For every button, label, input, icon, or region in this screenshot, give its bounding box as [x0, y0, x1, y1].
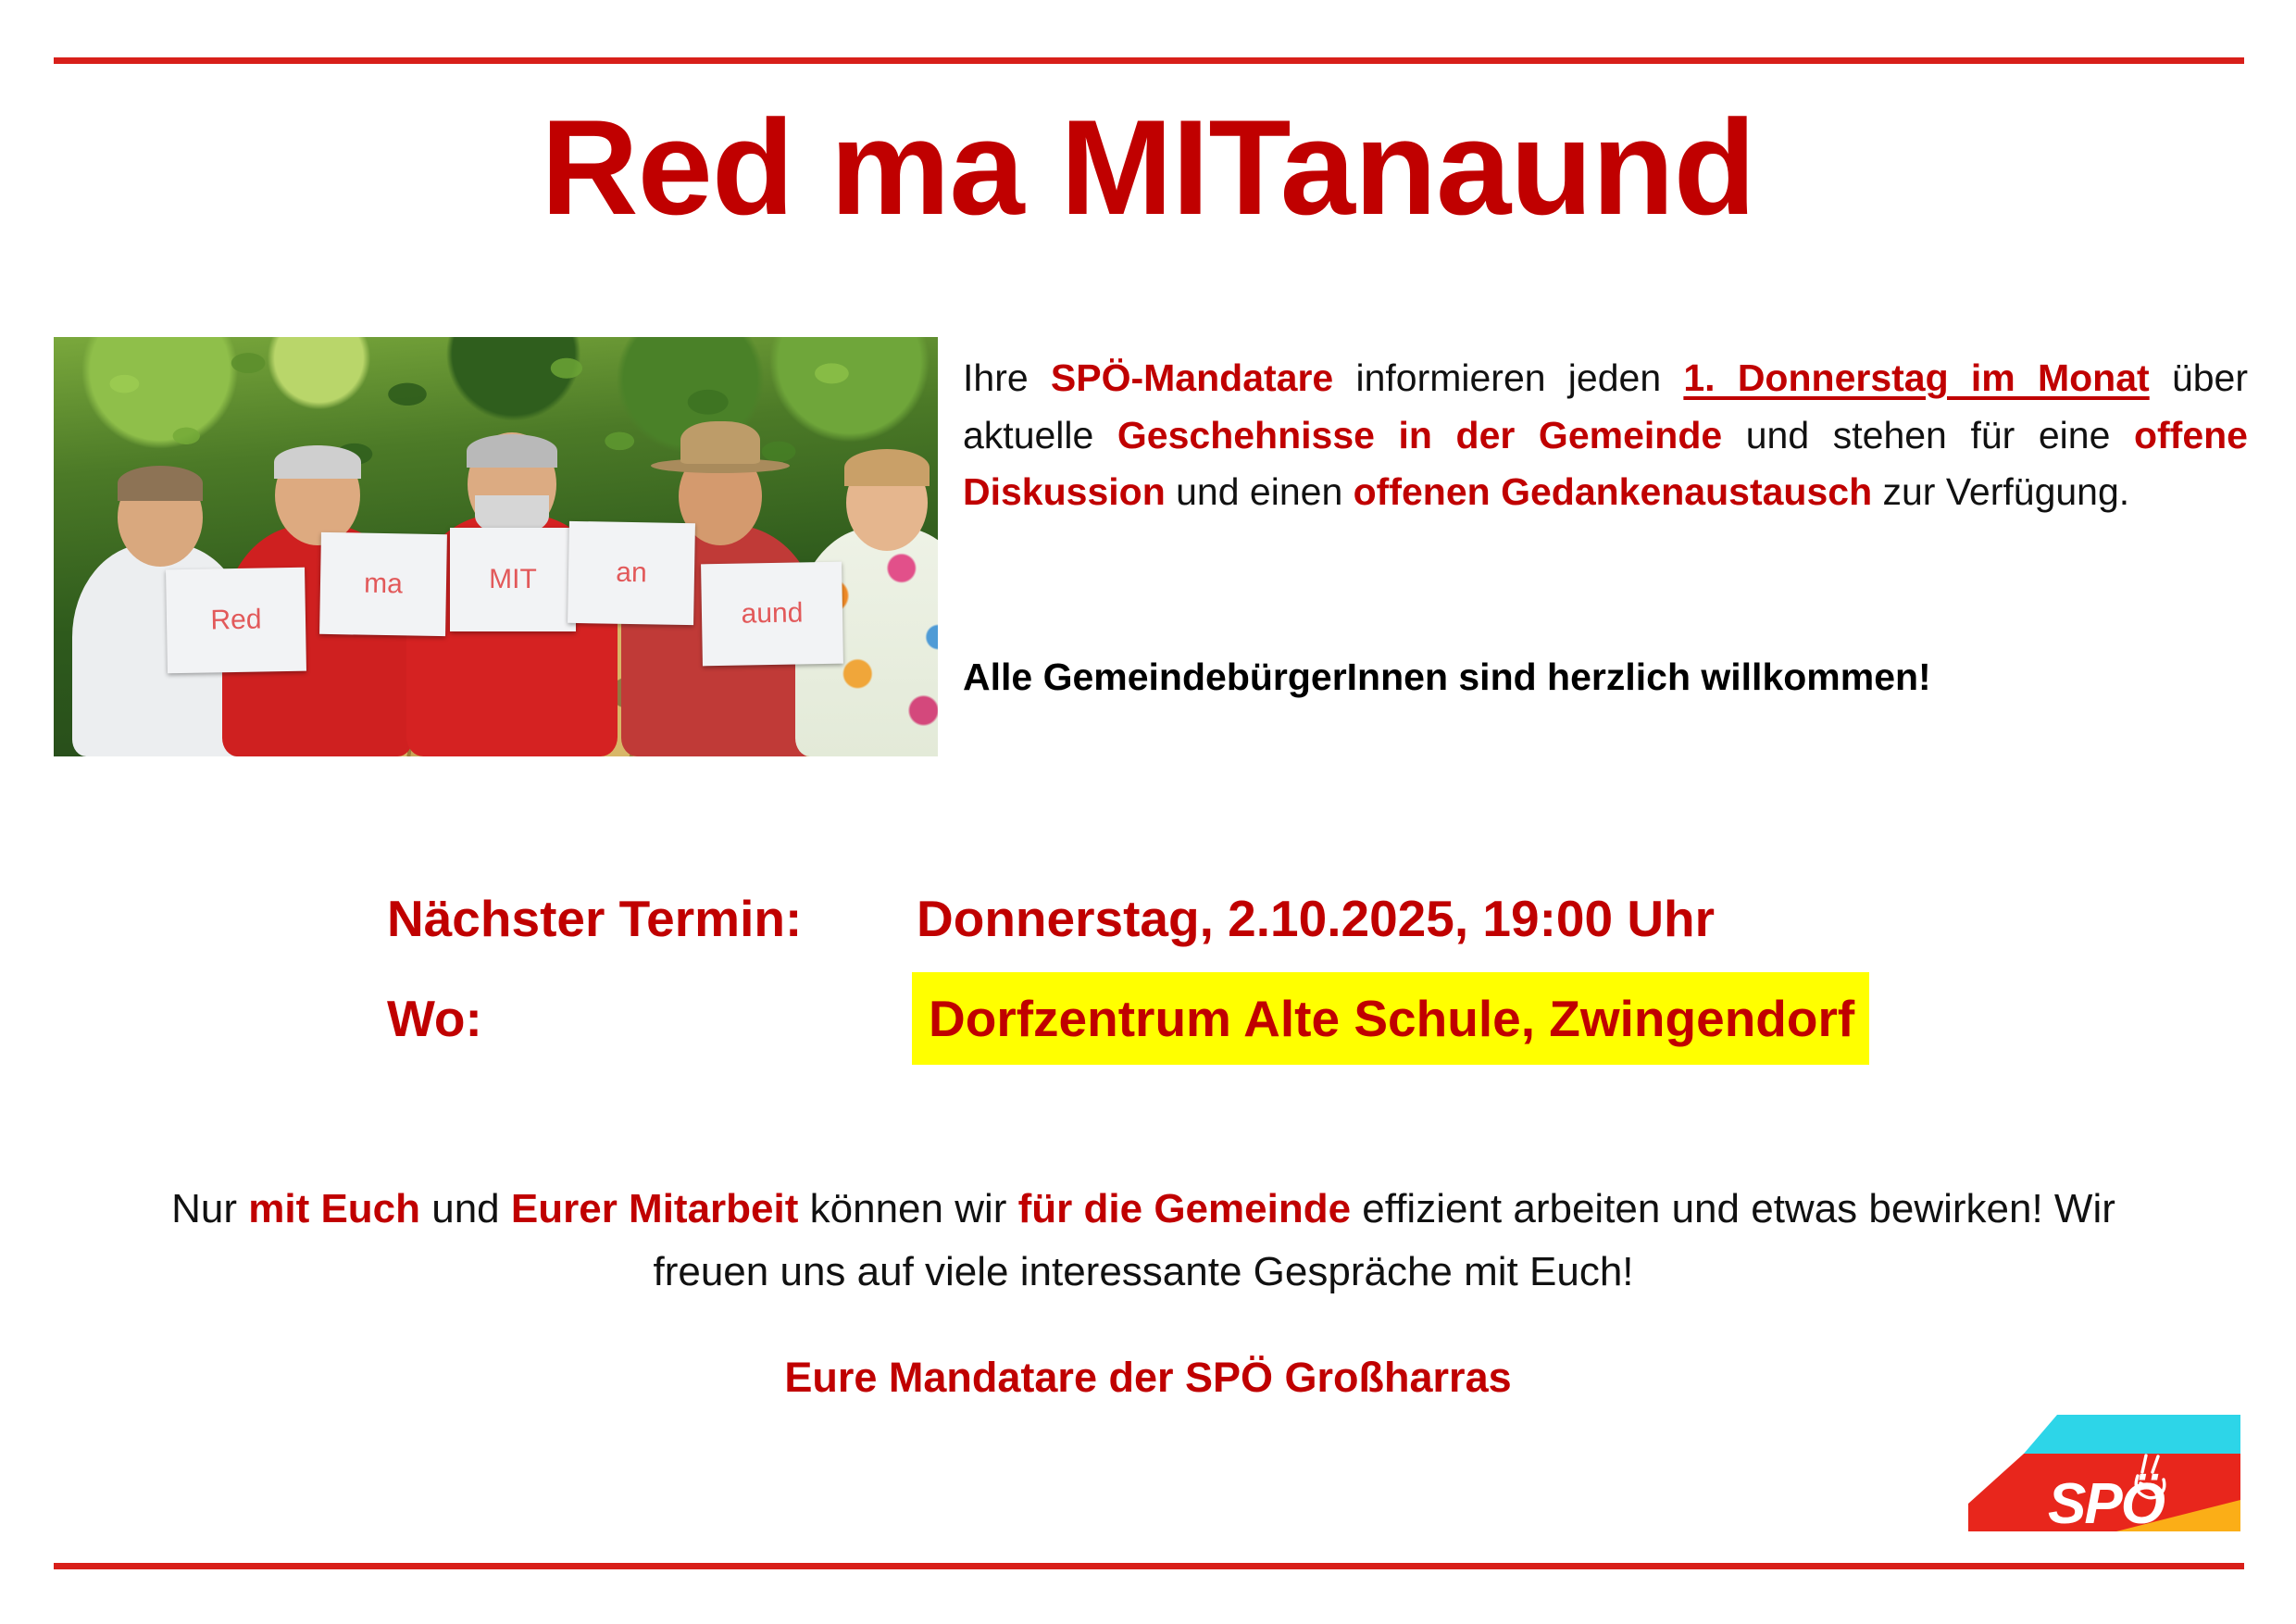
intro-geschehnisse: Geschehnisse in der Gemeinde [1117, 414, 1722, 456]
photo-sign-red: Red [166, 568, 306, 674]
welcome-line: Alle GemeindebürgerInnen sind herzlich w… [963, 653, 2259, 702]
intro-paragraph: Ihre SPÖ-Mandatare informieren jeden 1. … [963, 350, 2248, 521]
intro-gedankenaustausch: offenen Gedankenaustausch [1354, 470, 1872, 513]
closing-seg-1: Nur [171, 1186, 248, 1231]
spoe-logo: SPÖ [1968, 1415, 2240, 1567]
bottom-red-rule [54, 1563, 2244, 1569]
spoe-logo-text: SPÖ [2048, 1476, 2164, 1533]
photo-person-2-hair [274, 445, 361, 479]
photo-person-4-hat-crown [680, 421, 760, 464]
photo-person-5-hair [844, 449, 930, 486]
photo-sign-ma: ma [319, 532, 447, 636]
signoff-line: Eure Mandatare der SPÖ Großharras [0, 1354, 2296, 1402]
poster-canvas: Red ma MITanaund [0, 0, 2296, 1624]
next-date-label: Nächster Termin: [387, 889, 802, 948]
page-title: Red ma MITanaund [0, 100, 2296, 235]
top-red-rule [54, 57, 2244, 64]
location-value-highlighted: Dorfzentrum Alte Schule, Zwingendorf [912, 972, 1869, 1065]
intro-seg-9: und einen [1166, 470, 1354, 513]
intro-seg-7: und stehen für eine [1722, 414, 2134, 456]
intro-seg-3: informieren jeden [1333, 356, 1683, 399]
closing-seg-3: und [420, 1186, 511, 1231]
closing-eurer-mitarbeit: Eurer Mitarbeit [511, 1186, 799, 1231]
intro-seg-1: Ihre [963, 356, 1051, 399]
closing-fuer-die-gemeinde: für die Gemeinde [1018, 1186, 1351, 1231]
photo-person-1-hair [118, 466, 203, 501]
next-date-value: Donnerstag, 2.10.2025, 19:00 Uhr [917, 889, 1715, 948]
closing-mit-euch: mit Euch [248, 1186, 420, 1231]
closing-paragraph: Nur mit Euch und Eurer Mitarbeit können … [120, 1178, 2166, 1304]
intro-seg-11: zur Verfügung. [1872, 470, 2129, 513]
location-label: Wo: [387, 989, 482, 1048]
logo-cyan-stripe [2024, 1415, 2240, 1454]
intro-first-thursday: 1. Donnerstag im Monat [1683, 356, 2149, 399]
photo-person-3-hair [467, 434, 557, 468]
photo-sign-an: an [568, 521, 695, 625]
closing-seg-5: können wir [798, 1186, 1017, 1231]
photo-sign-aund: aund [701, 562, 843, 667]
group-photo: Red ma MIT an aund [54, 337, 938, 756]
photo-sign-mit: MIT [450, 528, 576, 631]
intro-spoe-mandatare: SPÖ-Mandatare [1051, 356, 1333, 399]
